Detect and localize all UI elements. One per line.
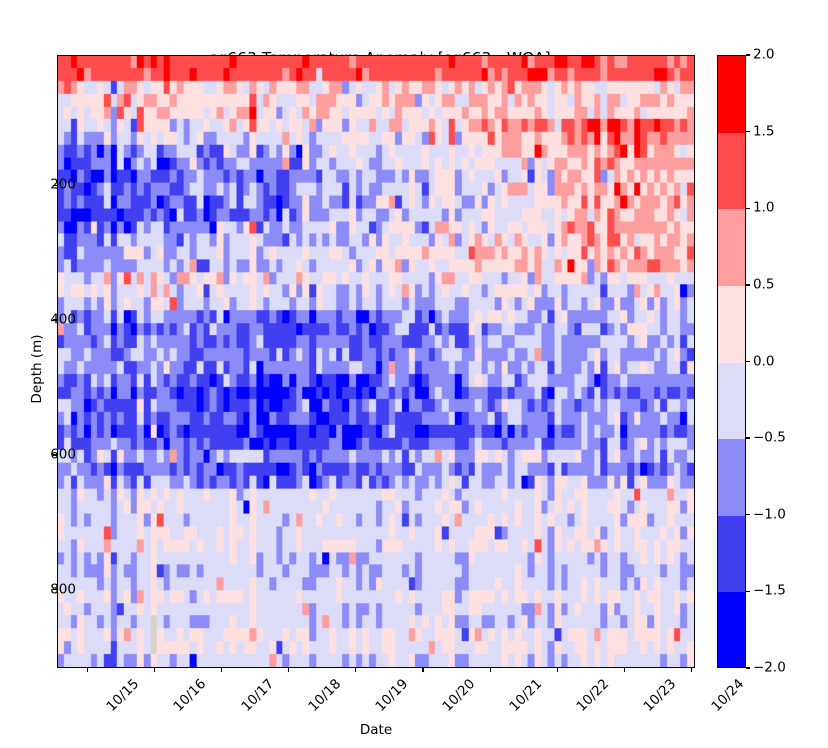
colorbar-tick-label: 0.0 xyxy=(753,355,774,369)
colorbar-tick-label: 1.5 xyxy=(753,125,774,139)
colorbar-tick-label: 2.0 xyxy=(753,48,774,62)
x-tick-label: 10/18 xyxy=(305,676,344,715)
x-tick-label: 10/17 xyxy=(238,676,277,715)
colorbar-tick-mark xyxy=(746,208,750,209)
x-tick-label: 10/15 xyxy=(104,676,143,715)
colorbar-band xyxy=(718,439,745,516)
colorbar-tick-label: 0.5 xyxy=(753,278,774,292)
colorbar-tick-label: −1.0 xyxy=(753,508,786,522)
x-tick-mark xyxy=(422,668,423,672)
colorbar-tick-mark xyxy=(746,54,750,55)
x-tick-label: 10/22 xyxy=(574,676,613,715)
x-tick-label: 10/16 xyxy=(171,676,210,715)
colorbar-tick-label: 1.0 xyxy=(753,202,774,216)
colorbar-tick-label: −1.5 xyxy=(753,585,786,599)
colorbar-band xyxy=(718,363,745,440)
colorbar-band xyxy=(718,592,745,668)
colorbar-tick-mark xyxy=(746,284,750,285)
x-tick-label: 10/24 xyxy=(708,676,747,715)
colorbar-tick-label: −2.0 xyxy=(753,661,786,675)
heatmap-axes xyxy=(57,55,695,668)
x-tick-label: 10/20 xyxy=(439,676,478,715)
colorbar-tick-mark xyxy=(746,667,750,668)
x-tick-label: 10/23 xyxy=(641,676,680,715)
colorbar-tick-mark xyxy=(746,437,750,438)
colorbar-band xyxy=(718,286,745,363)
x-axis-label: Date xyxy=(57,722,695,738)
x-tick-mark xyxy=(624,668,625,672)
colorbar xyxy=(717,55,746,668)
colorbar-tick-mark xyxy=(746,591,750,592)
colorbar-band xyxy=(718,516,745,593)
x-tick-mark xyxy=(490,668,491,672)
x-tick-mark xyxy=(87,668,88,672)
x-tick-mark xyxy=(288,668,289,672)
colorbar-tick-label: −0.5 xyxy=(753,431,786,445)
temperature-anomaly-figure: sg663 Temperature Anomaly [sg663 - WOA] … xyxy=(0,0,828,748)
x-tick-mark xyxy=(221,668,222,672)
y-tick-label: 800 xyxy=(50,583,76,597)
colorbar-tick-mark xyxy=(746,361,750,362)
x-tick-mark xyxy=(557,668,558,672)
x-tick-label: 10/21 xyxy=(507,676,546,715)
y-tick-label: 600 xyxy=(50,448,76,462)
colorbar-tick-mark xyxy=(746,131,750,132)
colorbar-band xyxy=(718,56,745,133)
y-tick-label: 200 xyxy=(50,178,76,192)
x-tick-mark xyxy=(691,668,692,672)
y-axis-label: Depth (m) xyxy=(29,309,45,429)
x-tick-mark xyxy=(154,668,155,672)
x-tick-mark xyxy=(355,668,356,672)
anomaly-heatmap xyxy=(58,56,694,667)
colorbar-band xyxy=(718,209,745,286)
y-tick-label: 400 xyxy=(50,313,76,327)
x-tick-label: 10/19 xyxy=(372,676,411,715)
colorbar-tick-mark xyxy=(746,514,750,515)
colorbar-band xyxy=(718,133,745,210)
